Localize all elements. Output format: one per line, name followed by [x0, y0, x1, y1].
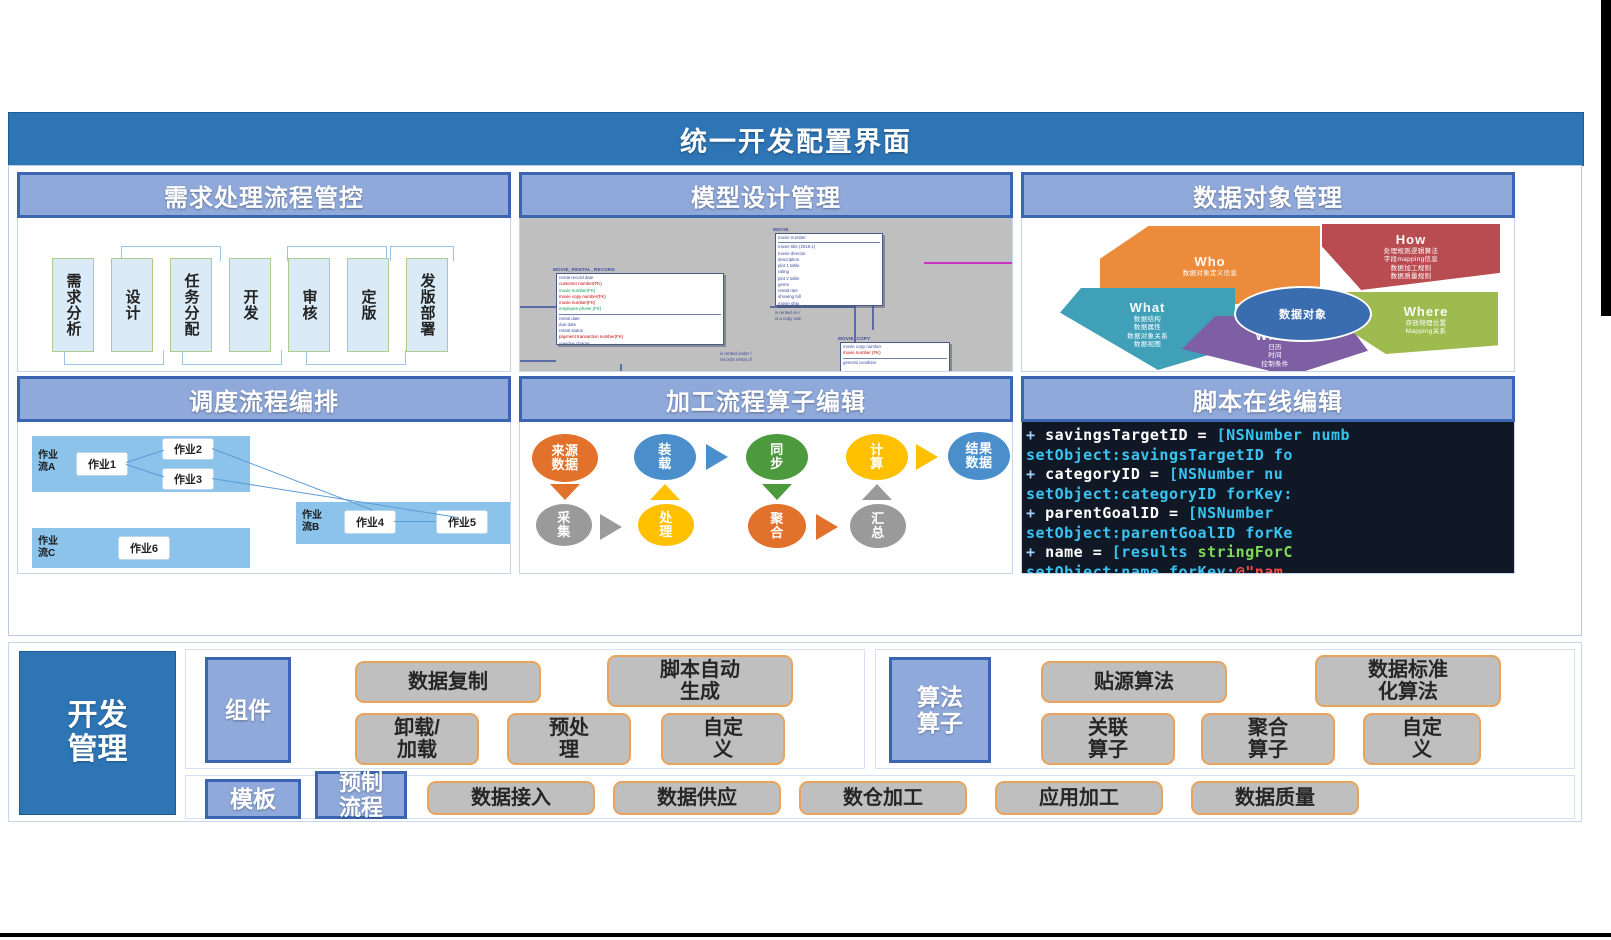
- job-node-1[interactable]: 作业1: [76, 452, 128, 476]
- requirement-flow-diagram: 需求分析 设计 任务分配 开发 审核 定版 发版部署: [42, 244, 472, 354]
- code-token: +: [1026, 465, 1045, 483]
- code-token: parentGoalID: [1045, 504, 1159, 522]
- panel-body-data-object: Who 数据对象定义信息 What 数据结构 数据属性 数据对象关系 数据视图: [1021, 218, 1515, 372]
- group-label-template[interactable]: 模板: [205, 779, 301, 819]
- right-edge-band: [1601, 0, 1611, 316]
- dev-management-side-label: 开发 管理: [19, 651, 176, 815]
- group-label-component[interactable]: 组件: [205, 657, 291, 763]
- data-object-pie-chart[interactable]: Who 数据对象定义信息 What 数据结构 数据属性 数据对象关系 数据视图: [1022, 218, 1514, 371]
- pie-label-what-en: What: [1060, 300, 1235, 316]
- bottom-rule: [0, 933, 1611, 937]
- er-field: general condition: [843, 360, 947, 366]
- code-token: [NSNumber: [1188, 504, 1274, 522]
- arrow-right-aggregate: [816, 514, 838, 540]
- operator-node-summary[interactable]: 汇 总: [850, 504, 906, 548]
- algorithm-card-4[interactable]: 自定 义: [1363, 713, 1481, 765]
- code-token: +: [1026, 426, 1045, 444]
- pie-label-how-en: How: [1328, 232, 1494, 248]
- code-token: setObject:name forKey:: [1026, 563, 1236, 574]
- job-flow-a[interactable]: [32, 436, 250, 492]
- arrow-up-summary: [862, 484, 892, 500]
- panel-operator-editor: 加工流程算子编辑 来源 数据 采 集 处 理 装 载 同 步 聚 合: [519, 376, 1013, 574]
- panel-grid: 需求处理流程管控 需求分析 设计 任务分配 开发 审核 定: [8, 165, 1582, 636]
- panel-title-script-editor: 脚本在线编辑: [1021, 376, 1515, 422]
- flow-bracket-down-2: [182, 350, 282, 365]
- preset-card-0[interactable]: 数据接入: [427, 781, 595, 815]
- flow-step-4[interactable]: 审核: [288, 258, 330, 352]
- pie-label-who-en: Who: [1100, 254, 1320, 270]
- arrow-down-source: [550, 484, 580, 500]
- job-flow-b-label: 作业 流B: [302, 510, 322, 533]
- panel-body-script-editor: + savingsTargetID = [NSNumber numbsetObj…: [1021, 422, 1515, 574]
- code-token: =: [1140, 465, 1169, 483]
- flow-bracket-down-3: [306, 350, 406, 365]
- er-table-0[interactable]: rental record date customer number(FK) m…: [556, 273, 724, 345]
- component-card-4[interactable]: 自定 义: [661, 713, 785, 765]
- scheduling-diagram[interactable]: 作业 流A 作业1 作业2 作业3 作业 流B 作业4 作业5: [18, 422, 510, 573]
- unified-dev-config-app: 统一开发配置界面 需求处理流程管控 需求分析 设计 任务分配: [8, 112, 1590, 822]
- operator-node-compute[interactable]: 计 算: [846, 434, 908, 480]
- er-table-title-0: MOVIE_RENTAL_RECORD: [553, 267, 615, 272]
- code-token: +: [1026, 504, 1045, 522]
- code-token: setObject:parentGoalID forKe: [1026, 524, 1293, 542]
- flow-step-3[interactable]: 开发: [229, 258, 271, 352]
- job-flow-a-label: 作业 流A: [38, 450, 58, 473]
- code-line: setObject:name forKey:@"nam: [1026, 563, 1514, 574]
- operator-node-load[interactable]: 装 载: [634, 434, 696, 480]
- panel-title-data-object: 数据对象管理: [1021, 172, 1515, 218]
- panel-body-requirement-flow: 需求分析 设计 任务分配 开发 审核 定版 发版部署: [17, 218, 511, 372]
- er-field: overdue charge: [559, 341, 721, 346]
- algorithm-card-0[interactable]: 贴源算法: [1041, 661, 1227, 703]
- preset-card-1[interactable]: 数据供应: [613, 781, 781, 815]
- arrow-up-process: [650, 484, 680, 500]
- er-connector-a: [520, 306, 556, 308]
- er-field: movie number: [778, 235, 880, 241]
- algorithm-card-3[interactable]: 聚合 算子: [1201, 713, 1335, 765]
- preset-card-2[interactable]: 数仓加工: [799, 781, 967, 815]
- panel-title-scheduling: 调度流程编排: [17, 376, 511, 422]
- er-table-title-1: MOVIE: [773, 227, 789, 232]
- panel-body-scheduling: 作业 流A 作业1 作业2 作业3 作业 流B 作业4 作业5: [17, 422, 511, 574]
- job-node-4[interactable]: 作业4: [344, 510, 396, 534]
- er-table-2[interactable]: movie copy number movie number (FK) gene…: [840, 342, 950, 372]
- operator-node-aggregate[interactable]: 聚 合: [748, 504, 806, 548]
- code-token: =: [1159, 504, 1188, 522]
- code-token: +: [1026, 543, 1045, 561]
- group-label-preset-flow[interactable]: 预制 流程: [315, 771, 407, 819]
- component-card-0[interactable]: 数据复制: [355, 661, 541, 703]
- arrow-right-compute: [916, 444, 938, 470]
- code-token: =: [1188, 426, 1217, 444]
- component-card-3[interactable]: 预处 理: [507, 713, 631, 765]
- code-token: [results: [1112, 543, 1198, 561]
- er-field: movie ship: [778, 301, 880, 307]
- flow-step-2[interactable]: 任务分配: [170, 258, 212, 352]
- job-node-3[interactable]: 作业3: [162, 468, 214, 490]
- er-table-title-2: MOVIE_COPY: [838, 336, 870, 341]
- flow-step-0[interactable]: 需求分析: [52, 258, 94, 352]
- er-divider: [559, 314, 721, 315]
- job-node-6[interactable]: 作业6: [118, 536, 170, 560]
- er-table-1[interactable]: movie number movie title (2019.1) movie …: [775, 233, 883, 306]
- dev-management-section: 开发 管理 组件 数据复制 脚本自动 生成 卸载/ 加载 预处 理 自定 义 算…: [8, 642, 1582, 822]
- preset-card-4[interactable]: 数据质量: [1191, 781, 1359, 815]
- algorithm-card-2[interactable]: 关联 算子: [1041, 713, 1175, 765]
- pie-label-who-cn: 数据对象定义信息: [1100, 270, 1320, 278]
- job-node-5[interactable]: 作业5: [436, 510, 488, 534]
- pie-label-where-cn: 存放物理位置 Mapping关系: [1354, 320, 1498, 336]
- code-token: name: [1045, 543, 1083, 561]
- panel-requirement-flow: 需求处理流程管控 需求分析 设计 任务分配 开发 审核 定: [17, 172, 511, 372]
- code-token: =: [1083, 543, 1112, 561]
- panel-body-operator-editor: 来源 数据 采 集 处 理 装 载 同 步 聚 合 汇 总: [519, 422, 1013, 574]
- preset-card-3[interactable]: 应用加工: [995, 781, 1163, 815]
- operator-node-result-data[interactable]: 结果 数据: [948, 432, 1010, 480]
- er-field: employee phone (FK): [559, 306, 721, 312]
- er-connector-b: [520, 360, 556, 362]
- code-line: setObject:parentGoalID forKe: [1026, 524, 1514, 544]
- panel-body-model-design: MOVIE_RENTAL_RECORD rental record date c…: [519, 218, 1013, 372]
- er-connector-e: [620, 364, 622, 372]
- er-connector-c: [770, 306, 856, 308]
- arrow-right-collect: [600, 514, 622, 540]
- arrow-down-sync: [762, 484, 792, 500]
- screenshot-canvas: 统一开发配置界面 需求处理流程管控 需求分析 设计 任务分配: [0, 0, 1611, 940]
- operator-node-process[interactable]: 处 理: [638, 504, 694, 546]
- component-card-1[interactable]: 脚本自动 生成: [607, 655, 793, 707]
- panel-script-editor: 脚本在线编辑 + savingsTargetID = [NSNumber num…: [1021, 376, 1515, 574]
- er-divider: [843, 358, 947, 359]
- pie-label-when-cn: 日历 时间 控制条件: [1182, 344, 1368, 368]
- panel-title-requirement-flow: 需求处理流程管控: [17, 172, 511, 218]
- group-label-algorithm[interactable]: 算法 算子: [889, 657, 991, 763]
- panel-scheduling: 调度流程编排 作业 流A 作业1 作业2 作业3 作业 流B 作业4 作业5: [17, 376, 511, 574]
- operator-node-collect[interactable]: 采 集: [536, 504, 592, 546]
- code-line: setObject:savingsTargetID fo: [1026, 446, 1514, 466]
- er-field: movie number (FK): [843, 350, 947, 356]
- pie-label-where-en: Where: [1354, 304, 1498, 320]
- er-note-0: is rented on / is a copy rate: [775, 310, 801, 322]
- code-token: stringForC: [1198, 543, 1293, 561]
- algorithm-card-1[interactable]: 数据标准 化算法: [1315, 655, 1501, 707]
- pie-segment-how[interactable]: How 处理规则逻辑算法 字段mapping信息 数据加工规则 数据质量规则: [1322, 224, 1500, 290]
- job-link-4-5: [394, 521, 436, 522]
- arrow-right-load: [706, 444, 728, 470]
- flow-step-6[interactable]: 发版部署: [406, 258, 448, 352]
- code-line: + parentGoalID = [NSNumber: [1026, 504, 1514, 524]
- job-flow-c-label: 作业 流C: [38, 536, 58, 559]
- pie-label-how-cn: 处理规则逻辑算法 字段mapping信息 数据加工规则 数据质量规则: [1328, 248, 1494, 281]
- panel-title-operator-editor: 加工流程算子编辑: [519, 376, 1013, 422]
- code-token: savingsTargetID: [1045, 426, 1188, 444]
- code-token: setObject:categoryID forKey:: [1026, 485, 1293, 503]
- operator-flow-diagram[interactable]: 来源 数据 采 集 处 理 装 载 同 步 聚 合 汇 总: [520, 422, 1012, 573]
- code-line: + name = [results stringForC: [1026, 543, 1514, 563]
- code-token: [NSNumber numb: [1217, 426, 1350, 444]
- panel-title-model-design: 模型设计管理: [519, 172, 1013, 218]
- pie-center-label: 数据对象: [1234, 286, 1372, 342]
- code-editor-area[interactable]: + savingsTargetID = [NSNumber numbsetObj…: [1022, 422, 1514, 573]
- job-node-2[interactable]: 作业2: [162, 438, 214, 460]
- er-divider: [778, 242, 880, 243]
- code-token: @"nam: [1236, 563, 1284, 574]
- operator-node-source-data[interactable]: 来源 数据: [532, 434, 598, 482]
- er-connector-pink: [924, 262, 1013, 264]
- code-line: setObject:categoryID forKey:: [1026, 485, 1514, 505]
- flow-bracket-down-1: [64, 350, 164, 365]
- panel-model-design: 模型设计管理 MOVIE_RENTAL_RECORD rental record…: [519, 172, 1013, 372]
- code-line: + categoryID = [NSNumber nu: [1026, 465, 1514, 485]
- flow-step-1[interactable]: 设计: [111, 258, 153, 352]
- component-card-2[interactable]: 卸载/ 加载: [355, 713, 479, 765]
- er-note-1: is rented under / records rental of: [720, 351, 752, 363]
- code-token: categoryID: [1045, 465, 1140, 483]
- code-line: + savingsTargetID = [NSNumber numb: [1026, 426, 1514, 446]
- flow-step-5[interactable]: 定版: [347, 258, 389, 352]
- operator-node-sync[interactable]: 同 步: [746, 434, 808, 480]
- code-token: [NSNumber nu: [1169, 465, 1283, 483]
- code-token: setObject:savingsTargetID fo: [1026, 446, 1293, 464]
- panel-data-object: 数据对象管理 Who 数据对象定义信息 Wh: [1021, 172, 1515, 372]
- er-diagram-canvas[interactable]: MOVIE_RENTAL_RECORD rental record date c…: [520, 218, 1012, 371]
- app-title: 统一开发配置界面: [8, 112, 1584, 166]
